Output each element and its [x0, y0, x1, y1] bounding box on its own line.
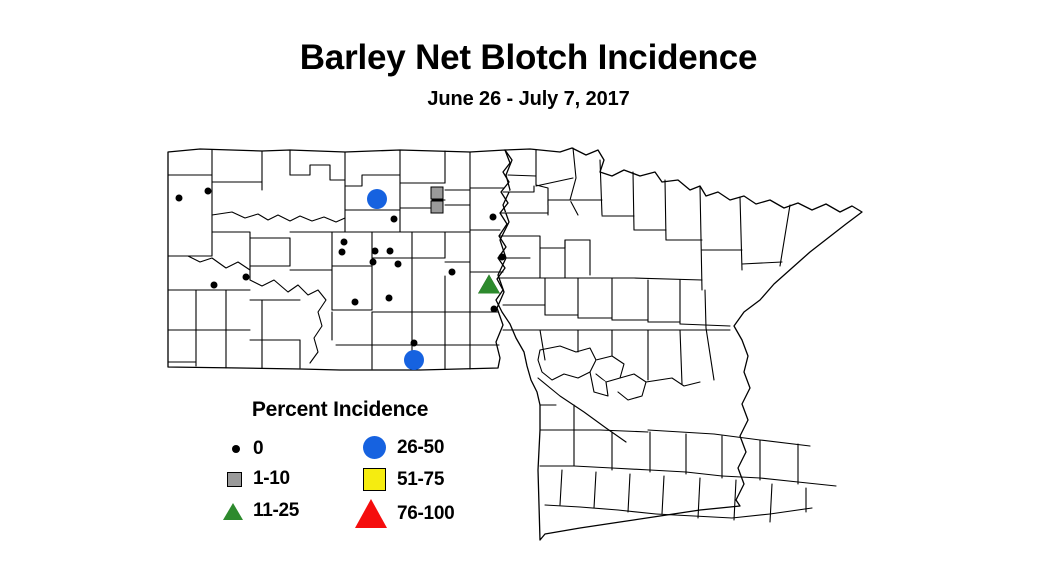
legend: Percent Incidence 0 1-10 11-25 26-50 51-…	[205, 398, 475, 538]
data-point	[491, 306, 498, 313]
legend-item-3: 26-50	[351, 436, 444, 459]
data-point	[478, 275, 500, 294]
triangle-large-icon	[345, 499, 397, 528]
data-point	[341, 239, 348, 246]
data-point	[391, 216, 398, 223]
legend-title: Percent Incidence	[205, 398, 475, 422]
legend-label: 26-50	[397, 437, 444, 459]
data-point	[370, 259, 377, 266]
data-point	[387, 248, 394, 255]
legend-item-5: 76-100	[345, 499, 454, 528]
legend-label: 51-75	[397, 469, 444, 491]
data-point	[449, 269, 456, 276]
triangle-small-icon	[213, 503, 253, 520]
data-point	[386, 295, 393, 302]
data-point	[243, 274, 250, 281]
states-map	[0, 0, 1057, 562]
minnesota-counties	[498, 148, 862, 540]
page-subtitle: June 26 - July 7, 2017	[0, 89, 1057, 110]
data-point	[372, 248, 379, 255]
legend-item-4: 51-75	[351, 468, 444, 491]
page-title: Barley Net Blotch Incidence	[0, 40, 1057, 77]
legend-item-1: 1-10	[215, 468, 290, 490]
data-point	[205, 188, 212, 195]
data-point	[395, 261, 402, 268]
data-point	[404, 350, 424, 370]
legend-label: 76-100	[397, 503, 454, 525]
dot-icon	[219, 445, 253, 453]
data-point	[431, 201, 444, 214]
legend-label: 1-10	[253, 468, 290, 490]
data-point	[352, 299, 359, 306]
data-point	[411, 340, 418, 347]
square-small-icon	[215, 472, 253, 487]
data-point	[431, 187, 444, 200]
data-point	[211, 282, 218, 289]
data-point	[339, 249, 346, 256]
data-point	[490, 214, 497, 221]
square-large-icon	[351, 468, 397, 491]
legend-label: 11-25	[253, 500, 299, 522]
legend-item-2: 11-25	[213, 500, 299, 522]
legend-label: 0	[253, 438, 263, 460]
legend-item-0: 0	[219, 438, 263, 460]
north-dakota-counties	[168, 149, 512, 370]
data-point	[367, 189, 387, 209]
map-canvas	[0, 0, 1057, 562]
data-point	[499, 254, 506, 261]
figure-root: Barley Net Blotch Incidence June 26 - Ju…	[0, 0, 1057, 562]
circle-icon	[351, 436, 397, 459]
data-point	[176, 195, 183, 202]
